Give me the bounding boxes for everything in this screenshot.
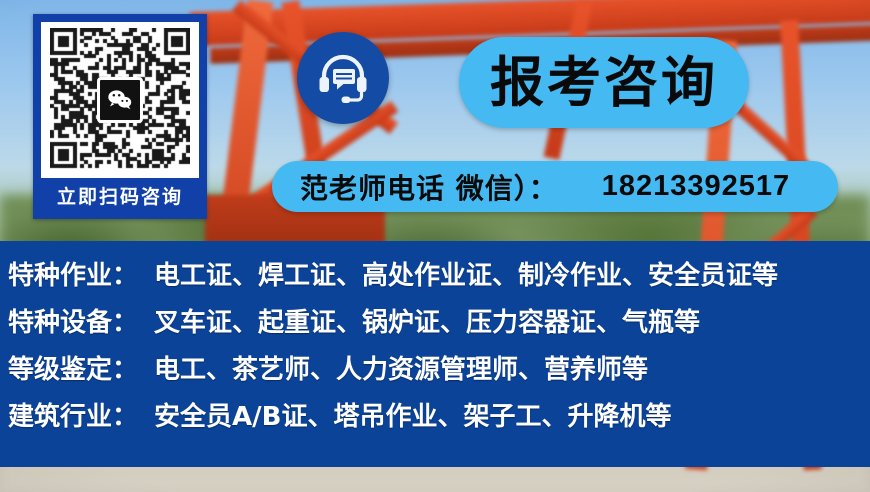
title-pill[interactable]: 报考咨询 (459, 37, 749, 128)
promo-poster: 立即扫码咨询 报考咨询 范老师电话 微信）： 18213392517 特种作业：… (0, 0, 870, 492)
info-row-value: 安全员A/B证、塔吊作业、架子工、升降机等 (154, 396, 671, 433)
info-row-0: 特种作业： 电工证、焊工证、高处作业证、制冷作业、安全员证等 (0, 255, 870, 302)
title-pill-label: 报考咨询 (490, 56, 718, 110)
qr-code-image[interactable] (41, 22, 199, 178)
phone-pill-label: 范老师电话 微信）： (300, 167, 558, 207)
info-row-category: 特种设备： (8, 302, 138, 339)
info-row-category: 特种作业： (8, 255, 138, 292)
info-panel: 特种作业： 电工证、焊工证、高处作业证、制冷作业、安全员证等 特种设备： 叉车证… (0, 241, 870, 467)
phone-pill[interactable]: 范老师电话 微信）： 18213392517 (272, 161, 838, 212)
info-row-category: 等级鉴定： (8, 349, 138, 386)
info-row-value: 电工证、焊工证、高处作业证、制冷作业、安全员证等 (154, 255, 778, 292)
info-row-3: 建筑行业： 安全员A/B证、塔吊作业、架子工、升降机等 (0, 396, 870, 443)
info-row-2: 等级鉴定： 电工、茶艺师、人力资源管理师、营养师等 (0, 349, 870, 396)
info-row-1: 特种设备： 叉车证、起重证、锅炉证、压力容器证、气瓶等 (0, 302, 870, 349)
info-row-value: 电工、茶艺师、人力资源管理师、营养师等 (154, 349, 648, 386)
headset-support-icon[interactable] (297, 32, 389, 124)
info-row-category: 建筑行业： (8, 396, 138, 433)
qr-caption: 立即扫码咨询 (41, 178, 199, 216)
info-row-value: 叉车证、起重证、锅炉证、压力容器证、气瓶等 (154, 302, 700, 339)
wechat-icon (97, 77, 143, 123)
qr-code-card[interactable]: 立即扫码咨询 (33, 14, 207, 219)
phone-number: 18213392517 (602, 170, 790, 203)
